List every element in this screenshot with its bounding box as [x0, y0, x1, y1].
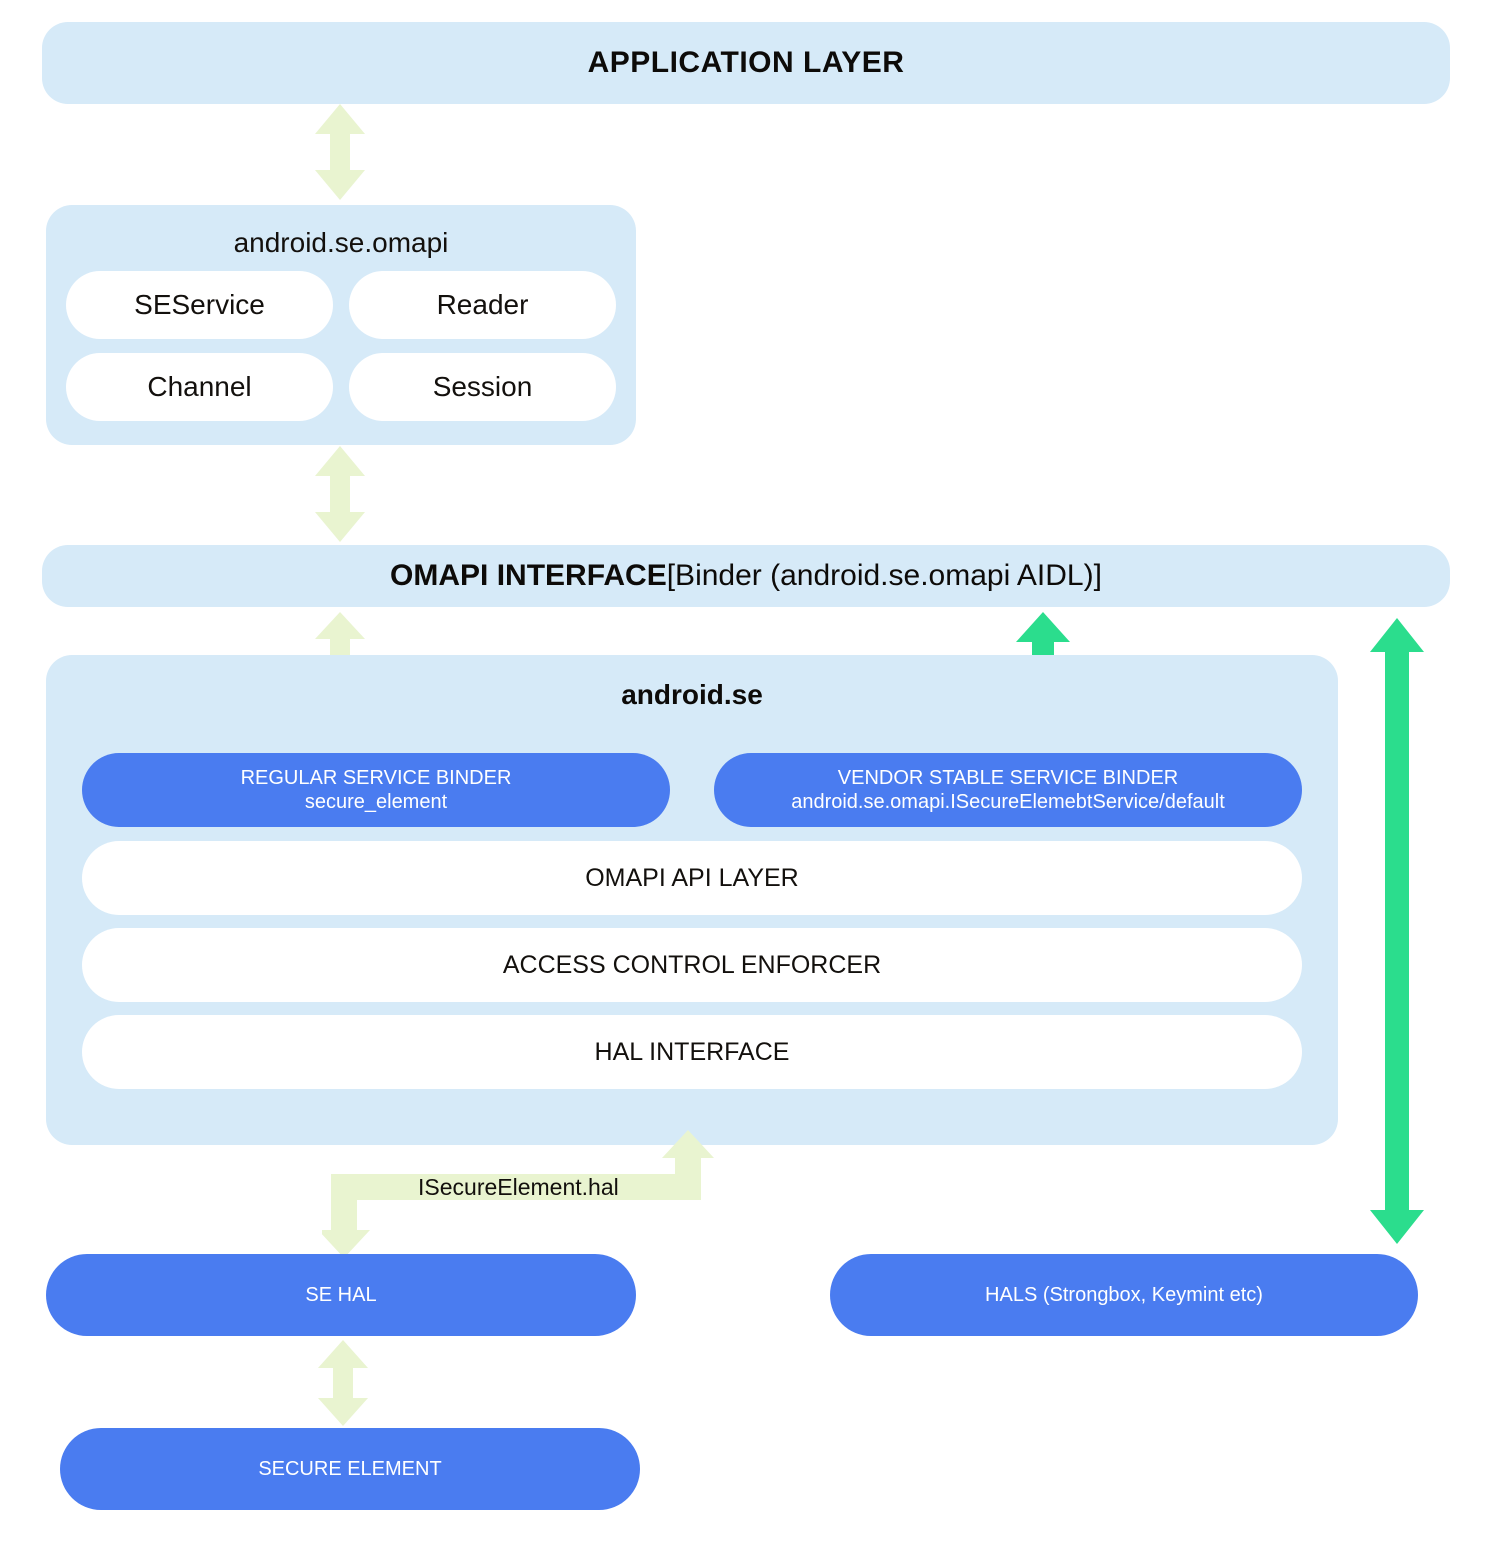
omapi-class-grid: SEService Reader Channel Session [46, 271, 636, 439]
omapi-package-title: android.se.omapi [46, 221, 636, 271]
omapi-interface-normal-label: [Binder (android.se.omapi AIDL)] [667, 559, 1102, 593]
application-layer-box: APPLICATION LAYER [42, 22, 1450, 104]
hals-box[interactable]: HALS (Strongbox, Keymint etc) [830, 1254, 1418, 1336]
binder-title: VENDOR STABLE SERVICE BINDER [838, 766, 1178, 790]
layer-label: OMAPI API LAYER [585, 864, 799, 893]
arrow-se-hal-to-secure-element [313, 1340, 373, 1426]
omapi-class-label: Channel [147, 371, 251, 403]
omapi-class-label: SEService [134, 289, 265, 321]
regular-service-binder[interactable]: REGULAR SERVICE BINDER secure_element [82, 753, 670, 827]
layer-hal-interface[interactable]: HAL INTERFACE [82, 1015, 1302, 1089]
layer-omapi-api[interactable]: OMAPI API LAYER [82, 841, 1302, 915]
vendor-stable-service-binder[interactable]: VENDOR STABLE SERVICE BINDER android.se.… [714, 753, 1302, 827]
architecture-diagram: APPLICATION LAYER android.se.omapi SESer… [0, 0, 1487, 1542]
omapi-class-session[interactable]: Session [349, 353, 616, 421]
android-se-title: android.se [46, 655, 1338, 711]
omapi-class-label: Reader [437, 289, 529, 321]
arrow-omapi-package-to-interface [310, 446, 370, 542]
arrow-interface-to-hals-vendor [1365, 618, 1429, 1244]
service-binders-row: REGULAR SERVICE BINDER secure_element VE… [46, 711, 1338, 827]
hals-label: HALS (Strongbox, Keymint etc) [985, 1284, 1263, 1307]
omapi-class-seservice[interactable]: SEService [66, 271, 333, 339]
omapi-class-channel[interactable]: Channel [66, 353, 333, 421]
omapi-interface-box: OMAPI INTERFACE [Binder (android.se.omap… [42, 545, 1450, 607]
secure-element-box[interactable]: SECURE ELEMENT [60, 1428, 640, 1510]
omapi-package-box: android.se.omapi SEService Reader Channe… [46, 205, 636, 445]
secure-element-label: SECURE ELEMENT [258, 1458, 441, 1481]
binder-title: REGULAR SERVICE BINDER [241, 766, 512, 790]
application-layer-label: APPLICATION LAYER [588, 46, 905, 80]
omapi-class-reader[interactable]: Reader [349, 271, 616, 339]
se-hal-box[interactable]: SE HAL [46, 1254, 636, 1336]
binder-subtitle: secure_element [305, 790, 447, 814]
layer-label: ACCESS CONTROL ENFORCER [503, 951, 881, 980]
android-se-container: android.se REGULAR SERVICE BINDER secure… [46, 655, 1338, 1145]
binder-subtitle: android.se.omapi.ISecureElemebtService/d… [791, 790, 1225, 814]
layer-label: HAL INTERFACE [595, 1038, 790, 1067]
layer-access-control-enforcer[interactable]: ACCESS CONTROL ENFORCER [82, 928, 1302, 1002]
omapi-class-label: Session [433, 371, 533, 403]
se-hal-label: SE HAL [305, 1284, 376, 1307]
arrow-app-to-omapi-package [310, 104, 370, 200]
omapi-interface-strong-label: OMAPI INTERFACE [390, 559, 667, 593]
hal-connector-label: ISecureElement.hal [418, 1174, 619, 1201]
android-se-layer-stack: OMAPI API LAYER ACCESS CONTROL ENFORCER … [46, 827, 1338, 1089]
